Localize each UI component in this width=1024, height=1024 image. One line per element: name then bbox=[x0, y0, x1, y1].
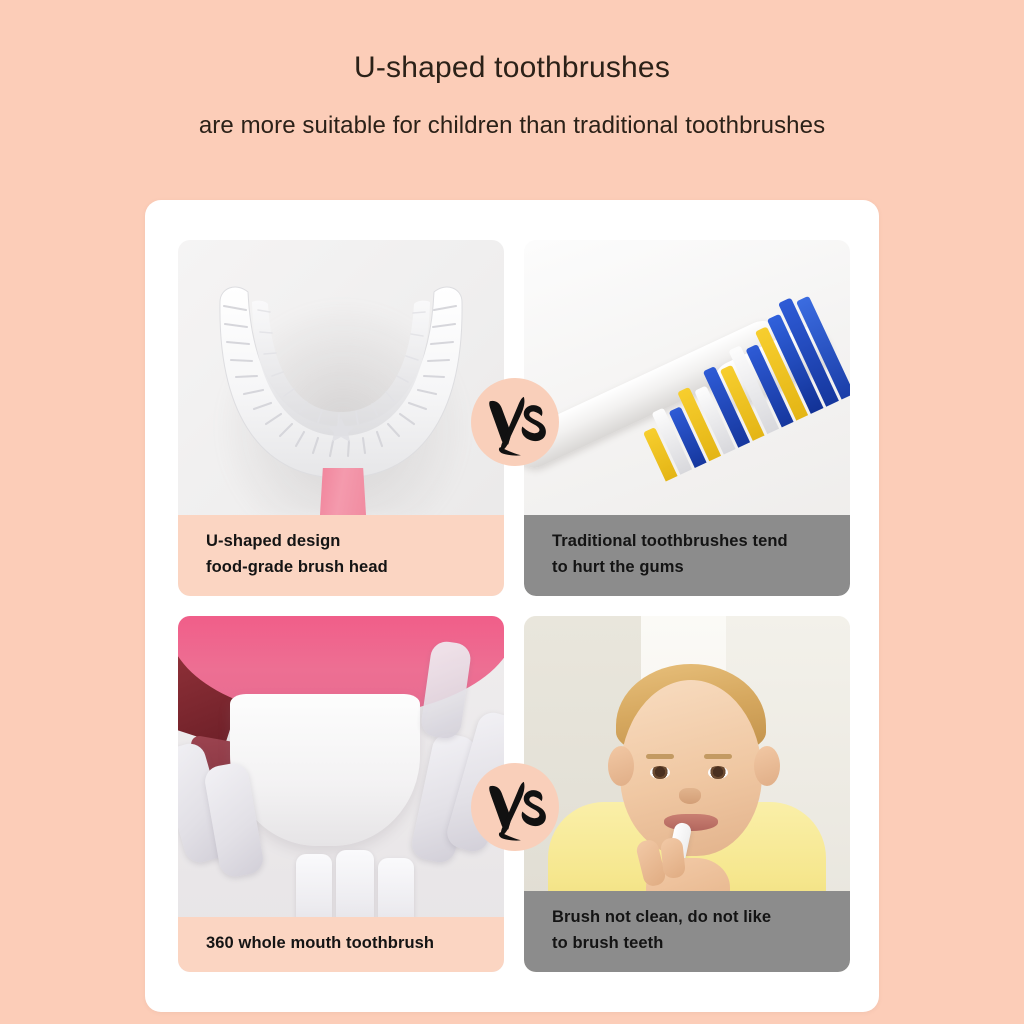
panel-caption: Traditional toothbrushes tend to hurt th… bbox=[524, 515, 850, 596]
header: U-shaped toothbrushes are more suitable … bbox=[0, 0, 1024, 141]
comparison-card: U-shaped design food-grade brush head bbox=[145, 200, 879, 1012]
panel-traditional-brush: Traditional toothbrushes tend to hurt th… bbox=[524, 240, 850, 596]
vs-badge-bottom bbox=[471, 763, 559, 851]
vs-icon bbox=[478, 770, 552, 844]
panel-caption: Brush not clean, do not like to brush te… bbox=[524, 891, 850, 972]
page-title: U-shaped toothbrushes bbox=[0, 50, 1024, 86]
bristle-tufts bbox=[601, 260, 850, 484]
panel-whole-mouth-brush: 360 whole mouth toothbrush bbox=[178, 616, 504, 972]
vs-badge-top bbox=[471, 378, 559, 466]
panel-child-brushing: Brush not clean, do not like to brush te… bbox=[524, 616, 850, 972]
panel-u-shaped-brush: U-shaped design food-grade brush head bbox=[178, 240, 504, 596]
panel-grid: U-shaped design food-grade brush head bbox=[178, 240, 850, 972]
vs-icon bbox=[478, 385, 552, 459]
panel-caption: U-shaped design food-grade brush head bbox=[178, 515, 504, 596]
page-subtitle: are more suitable for children than trad… bbox=[0, 112, 1024, 141]
panel-caption: 360 whole mouth toothbrush bbox=[178, 917, 504, 972]
